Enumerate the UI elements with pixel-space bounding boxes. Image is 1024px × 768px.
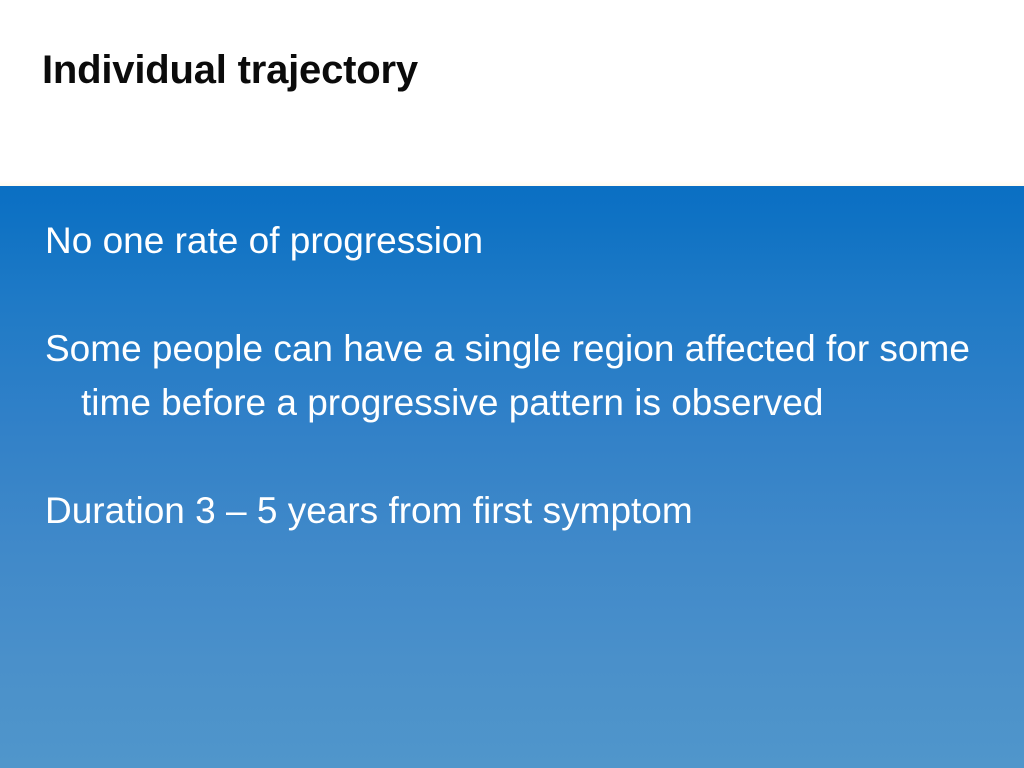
slide-body-text: No one rate of progression Some people c… bbox=[45, 214, 997, 538]
slide-body-panel: No one rate of progression Some people c… bbox=[0, 186, 1024, 768]
slide-title-band: Individual trajectory bbox=[0, 0, 1024, 186]
paragraph-spacer bbox=[45, 430, 997, 484]
body-paragraph-2: Some people can have a single region aff… bbox=[45, 322, 997, 430]
paragraph-spacer bbox=[45, 268, 997, 322]
page-title: Individual trajectory bbox=[42, 48, 418, 93]
body-paragraph-3: Duration 3 – 5 years from first symptom bbox=[45, 484, 997, 538]
body-paragraph-1: No one rate of progression bbox=[45, 214, 997, 268]
slide: Individual trajectory No one rate of pro… bbox=[0, 0, 1024, 768]
